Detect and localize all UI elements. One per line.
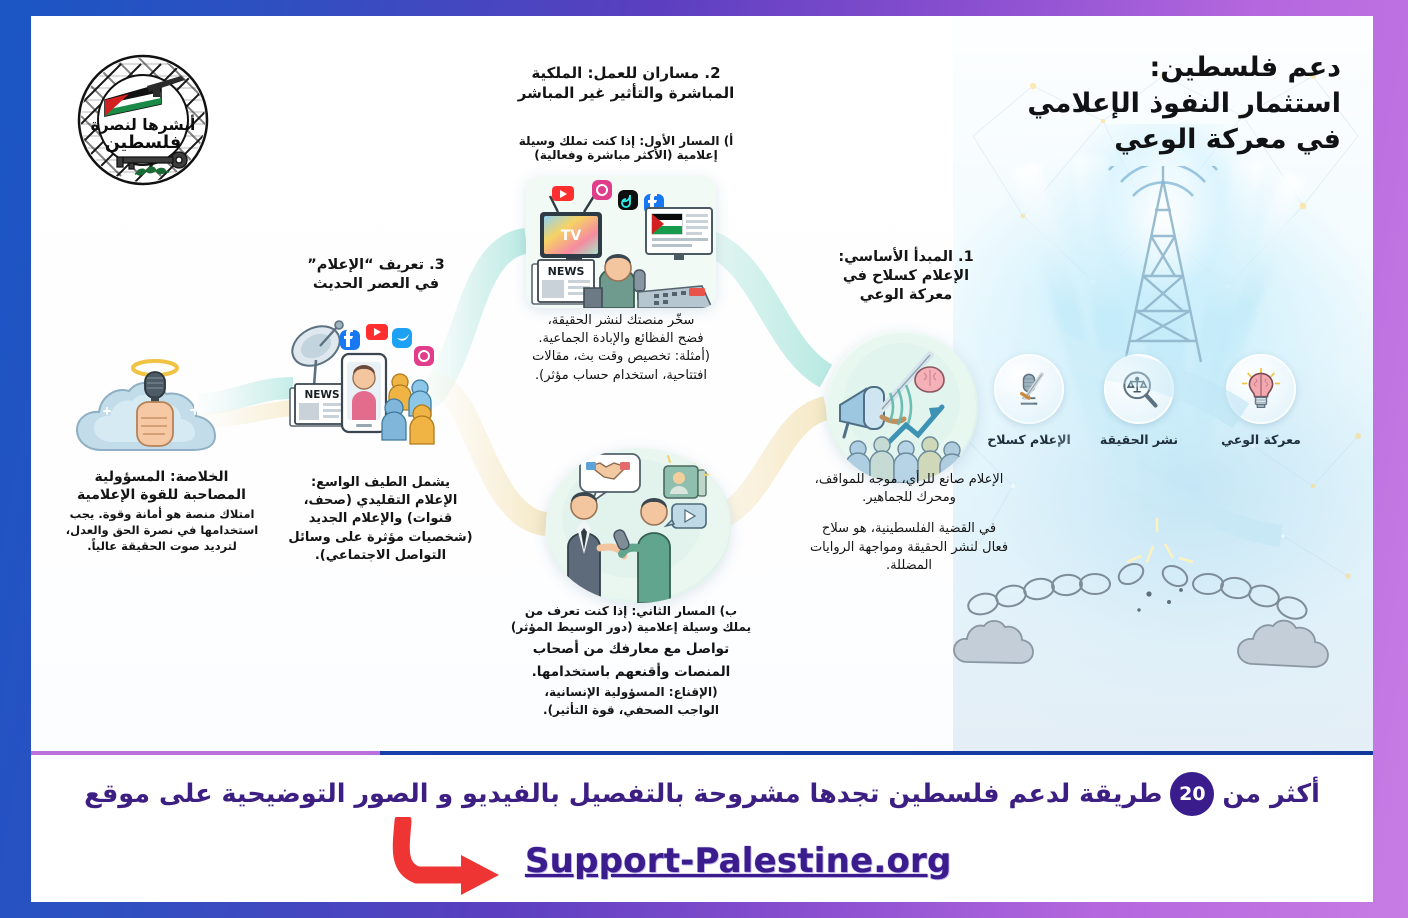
logo-line-2: فلسطين (105, 133, 181, 153)
node-4-body-line-3: لترديد صوت الحقيقة عالياً. (57, 538, 267, 554)
node-2-two-paths: TV (526, 176, 716, 308)
node-3-body-line-4: (شخصيات مؤثرة على وسائل (283, 529, 478, 547)
node-1-body: الإعلام صانع للرأي، موجه للمواقف، ومحرك … (809, 471, 1009, 575)
path-b-note-line-1: (الإقناع: المسؤولية الإنسانية، (496, 685, 766, 699)
logo-line-1: أنشرها لنصرة (91, 115, 196, 134)
curved-red-arrow-icon (383, 817, 523, 895)
node-4-body: امتلاك منصة هو أمانة وقوة. يجب استخدامها… (57, 506, 267, 554)
banner-text-main: طريقة لدعم فلسطين تجدها مشروحة بالتفصيل … (84, 779, 1162, 809)
svg-text:NEWS: NEWS (304, 389, 339, 401)
path-b-title-line-1: ب) المسار الثاني: إذا كنت تعرف من (496, 604, 766, 620)
svg-text:NEWS: NEWS (548, 265, 585, 278)
node-2-heading: 2. مساران للعمل: الملكية المباشرة والتأث… (481, 64, 771, 104)
node-3-heading-line-1: 3. تعريف “الإعلام” (281, 256, 471, 275)
media-spectrum-icon: NEWS (286, 316, 471, 451)
node-1-paragraph-1: الإعلام صانع للرأي، موجه للمواقف، ومحرك … (809, 471, 1009, 507)
node-1-heading-line-2: الإعلام كسلاح في (811, 267, 1001, 286)
node-4-heading-line-2: المصاحبة للقوة الإعلامية (59, 486, 264, 504)
svg-text:TV: TV (561, 228, 582, 244)
infographic-canvas: الإعلام كسلاح نشر الحقيقة (31, 16, 1373, 751)
node-2-heading-line-1: 2. مساران للعمل: الملكية (481, 64, 771, 84)
banner-divider (31, 751, 1373, 755)
interview-handshake-icon (546, 448, 731, 603)
node-4-heading-line-1: الخلاصة: المسؤولية (59, 468, 264, 486)
banner-text-prefix: أكثر من (1222, 779, 1319, 809)
banner-headline: أكثر من 20 طريقة لدعم فلسطين تجدها مشروح… (31, 765, 1373, 823)
node-1-core-principle (826, 331, 978, 483)
path-a-title-line-1: أ) المسار الأول: إذا كنت تملك وسيلة (506, 134, 746, 148)
path-b-body-line-2: المنصات وأقنعهم باستخدامها. (496, 663, 766, 682)
path-b-title-line-2: يملك وسيلة إعلامية (دور الوسيط المؤثر) (496, 620, 766, 636)
share-for-palestine-logo: أنشرها لنصرة فلسطين (77, 54, 209, 186)
node-2-heading-line-2: المباشرة والتأثير غير المباشر (481, 84, 771, 104)
node-2-path-b-illustration (546, 448, 731, 603)
node-4-conclusion (71, 346, 251, 456)
node-4-body-line-2: استخدامها في نصرة الحق والعدل، (57, 522, 267, 538)
node-3-body-line-1: يشمل الطيف الواسع: (283, 474, 478, 492)
path-a-body-line-3: (أمثلة: تخصيص وقت بث، مقالات (501, 348, 741, 366)
node-2-path-a-title: أ) المسار الأول: إذا كنت تملك وسيلة إعلا… (506, 134, 746, 162)
path-b-body-line-1: تواصل مع معارفك من أصحاب (496, 640, 766, 659)
node-3-body-line-3: قنوات) والإعلام الجديد (283, 510, 478, 528)
node-3-body-line-5: التواصل الاجتماعي). (283, 547, 478, 565)
path-a-title-line-2: إعلامية (الأكثر مباشرة وفعالية) (506, 148, 746, 162)
path-b-note-line-2: الواجب الصحفي، قوة التأثير). (496, 703, 766, 717)
path-a-body-line-1: سخّر منصتك لنشر الحقيقة، (501, 312, 741, 330)
node-3-media-definition: NEWS (286, 316, 471, 451)
node-4-body-line-1: امتلاك منصة هو أمانة وقوة. يجب (57, 506, 267, 522)
node-3-heading: 3. تعريف “الإعلام” في العصر الحديث (281, 256, 471, 294)
node-1-paragraph-2: في القضية الفلسطينية، هو سلاح فعال لنشر … (809, 520, 1009, 575)
path-a-body-line-2: فضح الفظائع والإبادة الجماعية. (501, 330, 741, 348)
hand-microphone-halo-cloud-icon (71, 346, 251, 456)
node-1-heading-line-1: 1. المبدأ الأساسي: (811, 248, 1001, 267)
broadcast-studio-icon: TV (526, 176, 716, 308)
node-3-body-line-2: الإعلام التقليدي (صحف، (283, 492, 478, 510)
status-badge: 20 (1170, 772, 1214, 816)
megaphone-crowd-brain-icon (826, 331, 978, 483)
node-1-heading-line-3: معركة الوعي (811, 286, 1001, 305)
bottom-banner: أكثر من 20 طريقة لدعم فلسطين تجدها مشروح… (31, 751, 1373, 902)
site-url-link[interactable]: Support-Palestine.org (525, 841, 952, 881)
node-2-path-a-body: سخّر منصتك لنشر الحقيقة، فضح الفظائع وال… (501, 312, 741, 385)
node-3-heading-line-2: في العصر الحديث (281, 275, 471, 294)
poster-frame: الإعلام كسلاح نشر الحقيقة (31, 16, 1373, 902)
node-1-heading: 1. المبدأ الأساسي: الإعلام كسلاح في معرك… (811, 248, 1001, 305)
path-a-body-line-4: افتتاحية، استخدام حساب مؤثر). (501, 367, 741, 385)
node-2-path-b-text: ب) المسار الثاني: إذا كنت تعرف من يملك و… (496, 604, 766, 717)
node-4-heading: الخلاصة: المسؤولية المصاحبة للقوة الإعلا… (59, 468, 264, 505)
node-3-body: يشمل الطيف الواسع: الإعلام التقليدي (صحف… (283, 474, 478, 565)
